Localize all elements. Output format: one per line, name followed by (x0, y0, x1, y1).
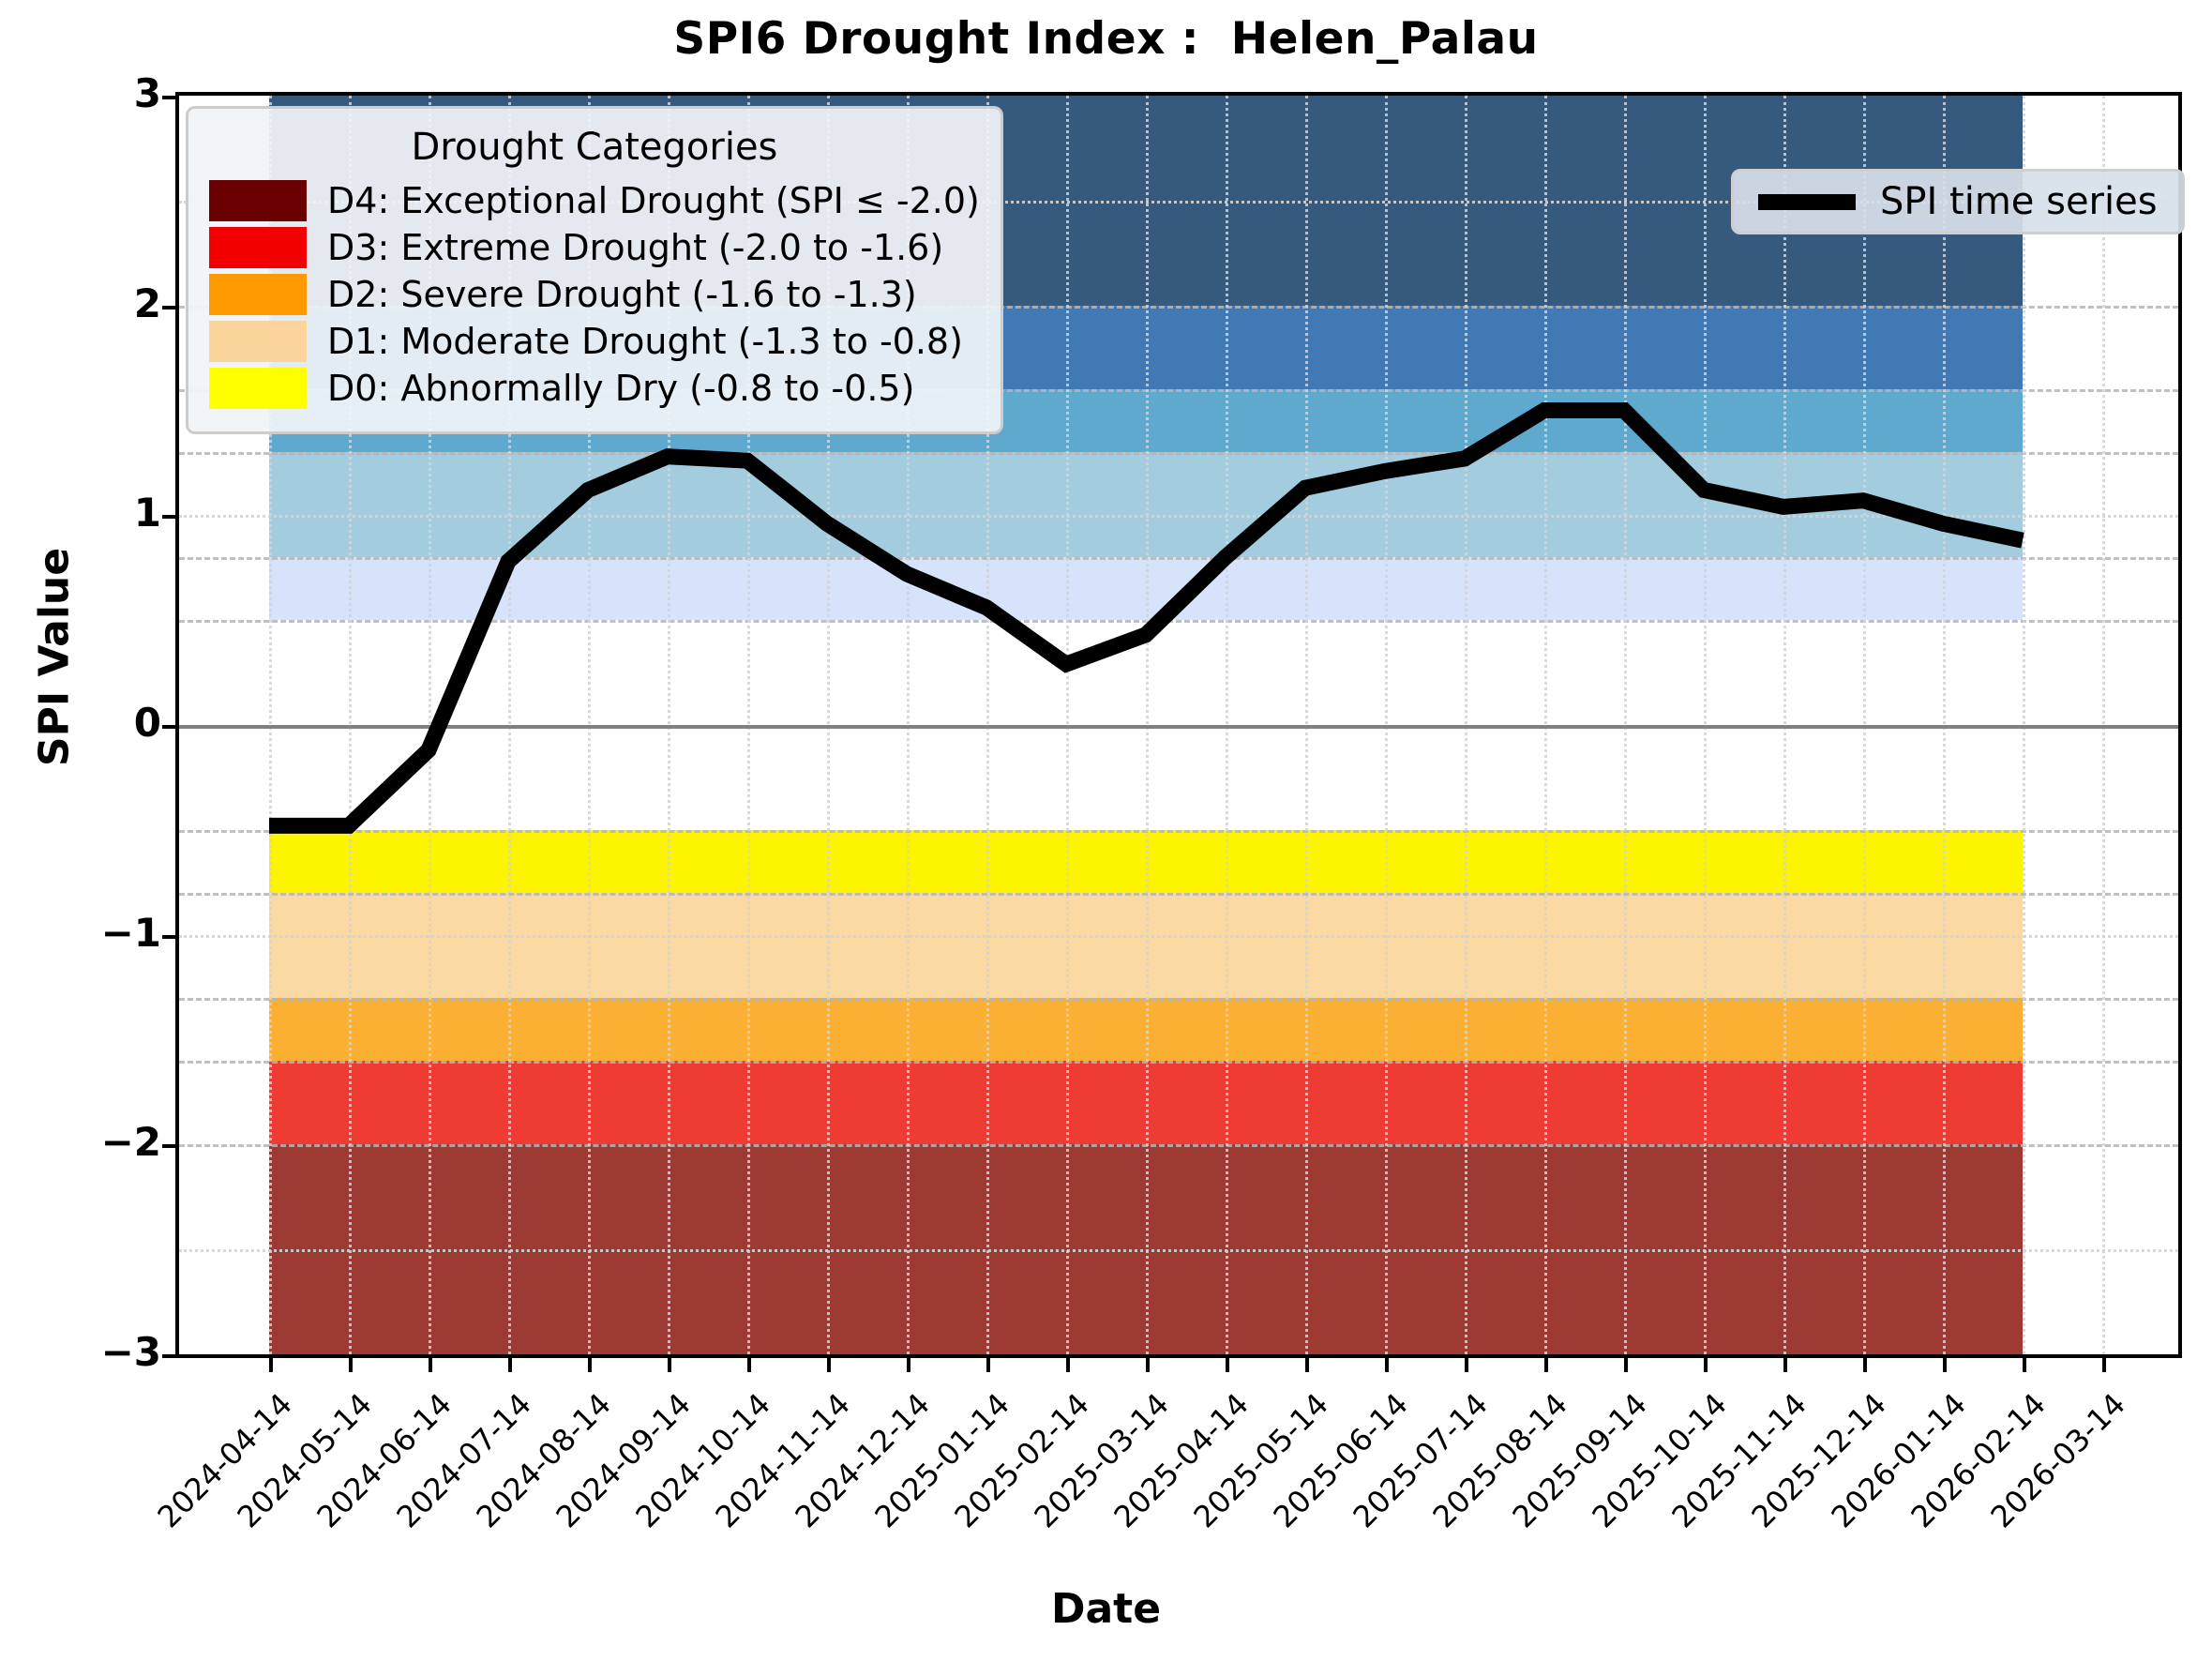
y-tick-mark (162, 725, 175, 729)
x-tick-mark (907, 1358, 910, 1372)
x-tick-mark (668, 1358, 671, 1372)
legend-item-label: D4: Exceptional Drought (SPI ≤ -2.0) (327, 180, 980, 221)
legend-swatch-icon (209, 180, 307, 221)
y-tick-label: −2 (101, 1119, 161, 1165)
y-tick-mark (162, 96, 175, 99)
x-tick-mark (827, 1358, 831, 1372)
page-title: SPI6 Drought Index : Helen_Palau (0, 13, 2212, 65)
legend-item-label: D3: Extreme Drought (-2.0 to -1.6) (327, 227, 943, 268)
x-tick-mark (1385, 1358, 1389, 1372)
x-tick-mark (429, 1358, 432, 1372)
x-tick-mark (349, 1358, 353, 1372)
y-tick-mark (162, 306, 175, 310)
x-tick-mark (508, 1358, 512, 1372)
x-tick-mark (1066, 1358, 1070, 1372)
x-tick-mark (1783, 1358, 1787, 1372)
x-tick-mark (1544, 1358, 1548, 1372)
y-tick-label: 2 (134, 280, 161, 326)
x-tick-mark (1704, 1358, 1708, 1372)
legend-title: Drought Categories (209, 126, 980, 169)
x-tick-mark (269, 1358, 273, 1372)
x-tick-mark (588, 1358, 592, 1372)
x-tick-mark (747, 1358, 751, 1372)
legend-swatch-icon (209, 227, 307, 268)
x-axis-label: Date (0, 1585, 2212, 1633)
y-tick-label: −1 (101, 910, 161, 956)
y-tick-label: −3 (101, 1329, 161, 1375)
legend-item-d3[interactable]: D3: Extreme Drought (-2.0 to -1.6) (209, 227, 980, 268)
x-tick-mark (1465, 1358, 1468, 1372)
legend-swatch-icon (209, 321, 307, 362)
legend-item-label: D1: Moderate Drought (-1.3 to -0.8) (327, 321, 963, 362)
x-tick-mark (986, 1358, 990, 1372)
legend-item-label: D2: Severe Drought (-1.6 to -1.3) (327, 274, 917, 315)
y-tick-label: 1 (134, 490, 161, 536)
x-tick-mark (1863, 1358, 1867, 1372)
legend-swatch-icon (209, 368, 307, 409)
x-tick-mark (1146, 1358, 1150, 1372)
legend-series-label: SPI time series (1880, 181, 2158, 222)
y-tick-label: 0 (134, 700, 161, 746)
spi-line-path (269, 411, 2023, 826)
legend-item-d2[interactable]: D2: Severe Drought (-1.6 to -1.3) (209, 274, 980, 315)
line-swatch-icon (1758, 194, 1856, 210)
legend-item-d4[interactable]: D4: Exceptional Drought (SPI ≤ -2.0) (209, 180, 980, 221)
legend-rows: D4: Exceptional Drought (SPI ≤ -2.0)D3: … (209, 180, 980, 409)
y-tick-mark (162, 935, 175, 939)
y-axis-label: SPI Value (31, 517, 79, 798)
legend-spi-time-series[interactable]: SPI time series (1731, 169, 2185, 234)
x-tick-mark (1943, 1358, 1947, 1372)
y-tick-mark (162, 515, 175, 519)
x-tick-mark (1226, 1358, 1229, 1372)
legend-item-label: D0: Abnormally Dry (-0.8 to -0.5) (327, 368, 914, 409)
x-tick-mark (1624, 1358, 1628, 1372)
legend-item-d1[interactable]: D1: Moderate Drought (-1.3 to -0.8) (209, 321, 980, 362)
x-tick-mark (1305, 1358, 1309, 1372)
legend-swatch-icon (209, 274, 307, 315)
x-tick-mark (2023, 1358, 2026, 1372)
y-tick-mark (162, 1354, 175, 1358)
spi-chart-figure: SPI6 Drought Index : Helen_Palau 3210−1−… (0, 0, 2212, 1661)
legend-drought-categories[interactable]: Drought Categories D4: Exceptional Droug… (186, 106, 1003, 434)
x-tick-mark (2102, 1358, 2106, 1372)
y-tick-mark (162, 1144, 175, 1148)
legend-item-d0[interactable]: D0: Abnormally Dry (-0.8 to -0.5) (209, 368, 980, 409)
y-tick-label: 3 (134, 70, 161, 116)
